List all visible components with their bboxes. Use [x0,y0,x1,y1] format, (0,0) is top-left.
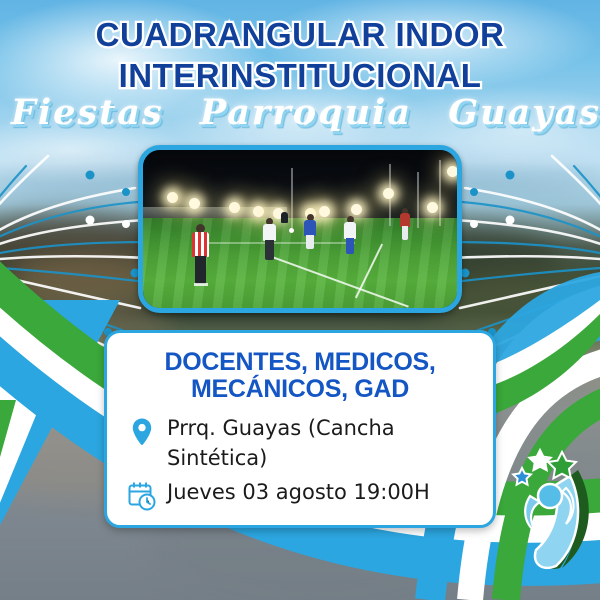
script-word-3: Guayas [448,92,600,133]
poster-title: CUADRANGULAR INDOR INTERINSTITUCIONAL [0,14,600,96]
location-pin-icon [127,413,157,447]
detail-row-location: Prrq. Guayas (Cancha Sintética) [127,413,473,473]
event-photo-content [143,150,457,308]
calendar-clock-icon [127,477,157,511]
title-line-1: CUADRANGULAR INDOR [0,14,600,55]
detail-datetime-text: Jueves 03 agosto 19:00H [167,477,430,507]
script-word-1: Fiestas [11,92,164,133]
card-details: Prrq. Guayas (Cancha Sintética) [127,413,473,511]
event-photo [138,145,462,313]
title-line-2: INTERINSTITUCIONAL [0,55,600,96]
card-heading: DOCENTES, MEDICOS, MECÁNICOS, GAD [127,349,473,403]
poster-canvas: CUADRANGULAR INDOR INTERINSTITUCIONAL Fi… [0,0,600,600]
photo-turf [143,218,457,308]
script-word-2: Parroquia [200,92,412,133]
detail-row-datetime: Jueves 03 agosto 19:00H [127,477,473,511]
detail-location-text: Prrq. Guayas (Cancha Sintética) [167,413,473,473]
event-info-card: DOCENTES, MEDICOS, MECÁNICOS, GAD Prrq. … [104,330,496,528]
photo-field-line [195,242,355,244]
poster-subtitle-script: Fiestas Parroquia Guayas [0,92,600,133]
gad-parroquial-logo [500,440,600,580]
